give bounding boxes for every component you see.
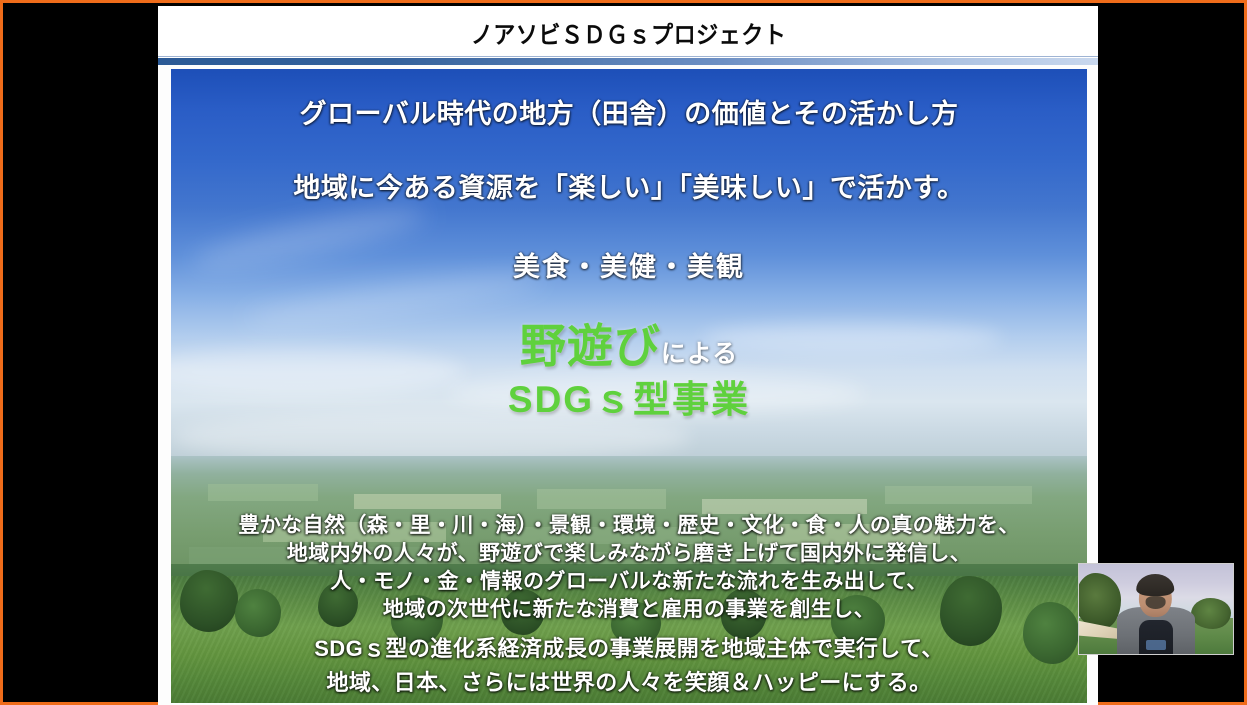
slide-body-line-2: 地域内外の人々が、野遊びで楽しみながら磨き上げて国内外に発信し、 xyxy=(171,537,1087,567)
webcam-shirt-print xyxy=(1146,640,1166,650)
slide-headline-2: 地域に今ある資源を「楽しい」「美味しい」で活かす。 xyxy=(171,166,1087,205)
webcam-person-beard xyxy=(1146,596,1166,609)
webcam-tree-right xyxy=(1191,598,1231,629)
slide-page: ノアソビＳＤＧｓプロジェクト xyxy=(158,6,1098,705)
emphasis-line-2: SDGｓ型事業 xyxy=(171,381,1087,418)
screen-share-frame: ノアソビＳＤＧｓプロジェクト xyxy=(0,0,1247,705)
slide-headline-3: 美食・美健・美観 xyxy=(171,245,1087,284)
slide-body-line-5: SDGｓ型の進化系経済成長の事業展開を地域主体で実行して、 xyxy=(171,631,1087,663)
presenter-video-thumbnail[interactable] xyxy=(1078,563,1234,655)
slide-body-line-1: 豊かな自然（森・里・川・海）・景観・環境・歴史・文化・食・人の真の魅力を、 xyxy=(171,509,1087,539)
slide-body-line-3: 人・モノ・金・情報のグローバルな新たな流れを生み出して、 xyxy=(171,565,1087,595)
title-divider-hairline xyxy=(158,56,1098,57)
emphasis-noasobi: 野遊び xyxy=(520,320,661,372)
emphasis-niyoru: による xyxy=(661,340,738,368)
slide-photo-background: グローバル時代の地方（田舎）の価値とその活かし方 地域に今ある資源を「楽しい」「… xyxy=(171,69,1087,703)
title-divider xyxy=(158,58,1098,65)
slide-title: ノアソビＳＤＧｓプロジェクト xyxy=(470,15,786,50)
emphasis-sdgs-business: SDGｓ型事業 xyxy=(508,379,750,420)
slide-headline-1: グローバル時代の地方（田舎）の価値とその活かし方 xyxy=(171,92,1087,131)
slide-title-bar: ノアソビＳＤＧｓプロジェクト xyxy=(158,6,1098,58)
slide-body-line-6: 地域、日本、さらには世界の人々を笑顔＆ハッピーにする。 xyxy=(171,665,1087,697)
emphasis-line-1: 野遊びによる xyxy=(171,323,1087,369)
slide-body-line-4: 地域の次世代に新たな消費と雇用の事業を創生し、 xyxy=(171,593,1087,623)
webcam-tree-left xyxy=(1078,573,1121,629)
emphasis-block: 野遊びによる SDGｓ型事業 xyxy=(171,323,1087,418)
